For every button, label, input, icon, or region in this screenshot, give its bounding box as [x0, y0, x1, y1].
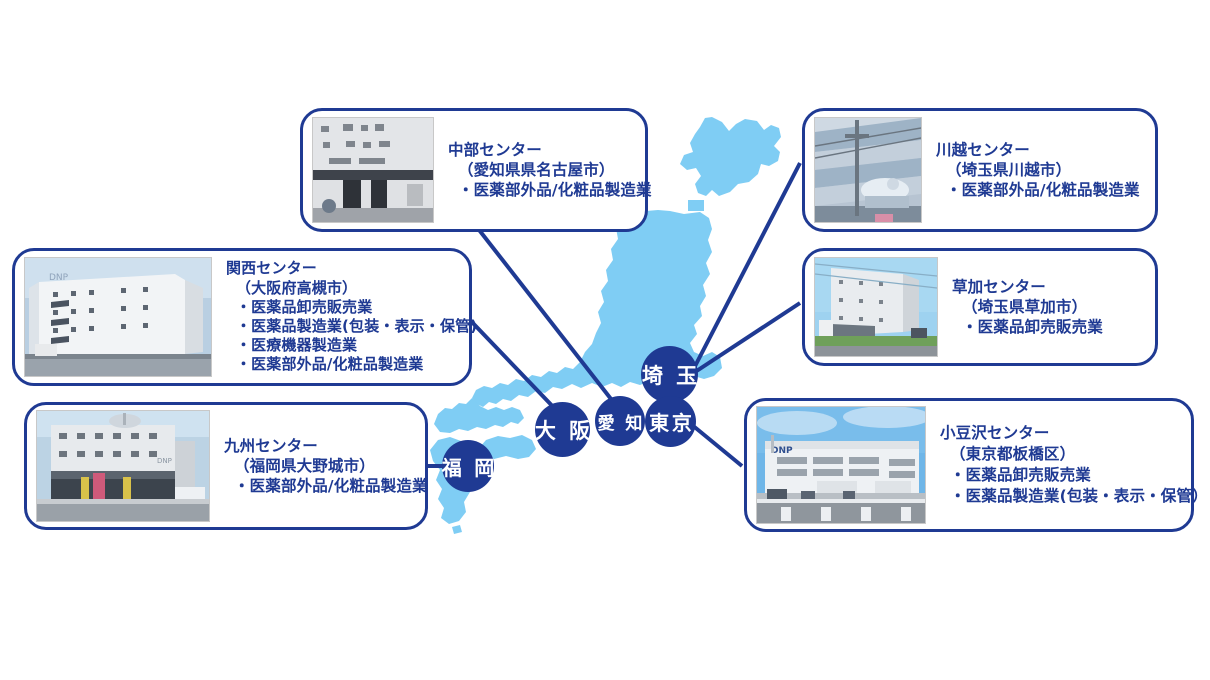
chubu-center-location: （愛知県県名古屋市） — [458, 160, 652, 180]
kyushu-center-location: （福岡県大野城市） — [234, 456, 428, 476]
kansai-center-text: 関西センター （大阪府高槻市） ・医薬品卸売販売業 ・医薬品製造業(包装・表示・… — [212, 259, 477, 374]
chubu-center-photo — [312, 117, 434, 223]
soka-center-name: 草加センター — [952, 277, 1146, 297]
kyushu-center-photo: DNP — [36, 410, 210, 522]
chubu-center-text: 中部センター （愛知県県名古屋市） ・医薬部外品/化粧品製造業 — [434, 140, 652, 200]
svg-text:DNP: DNP — [157, 457, 172, 465]
callout-kawagoe-center[interactable]: 川越センター （埼玉県川越市） ・医薬部外品/化粧品製造業 — [802, 108, 1158, 232]
azusawa-photo-sign: DNP — [771, 446, 793, 456]
soka-center-photo — [814, 257, 938, 357]
kyushu-center-name: 九州センター — [224, 436, 428, 456]
kawagoe-center-location: （埼玉県川越市） — [946, 160, 1146, 180]
kansai-center-location: （大阪府高槻市） — [236, 279, 477, 298]
map-pin-osaka-label: 大 阪 — [532, 415, 593, 445]
soka-center-item-0: ・医薬品卸売販売業 — [962, 317, 1146, 337]
map-pin-tokyo[interactable]: 東京 — [645, 396, 696, 447]
kansai-center-item-1: ・医薬品製造業(包装・表示・保管) — [236, 317, 477, 336]
callout-azusawa-center[interactable]: DNP 小豆沢センター （東京都板橋区） ・医薬品卸売販売業 ・医薬品製造業(包… — [744, 398, 1194, 532]
map-pin-saitama[interactable]: 埼 玉 — [641, 346, 698, 403]
hokkaido-shape — [680, 117, 781, 196]
map-pin-fukuoka-label: 福 岡 — [439, 452, 497, 481]
map-pin-saitama-label: 埼 玉 — [639, 360, 700, 390]
chubu-center-name: 中部センター — [448, 140, 652, 160]
callout-kyushu-center[interactable]: DNP 九州センター （福岡県大野城市） ・医薬部外品/化粧品製造業 — [24, 402, 428, 530]
kyushu-center-item-0: ・医薬部外品/化粧品製造業 — [234, 476, 428, 496]
map-pin-aichi[interactable]: 愛 知 — [595, 396, 645, 446]
callout-chubu-center[interactable]: 中部センター （愛知県県名古屋市） ・医薬部外品/化粧品製造業 — [300, 108, 648, 232]
azusawa-center-item-1: ・医薬品製造業(包装・表示・保管） — [950, 486, 1208, 507]
azusawa-center-text: 小豆沢センター （東京都板橋区） ・医薬品卸売販売業 ・医薬品製造業(包装・表示… — [926, 423, 1208, 506]
map-pin-osaka[interactable]: 大 阪 — [535, 402, 590, 457]
facility-map-diagram: 埼 玉 東京 愛 知 大 阪 福 岡 — [0, 0, 1210, 680]
callout-soka-center[interactable]: 草加センター （埼玉県草加市） ・医薬品卸売販売業 — [802, 248, 1158, 366]
kawagoe-center-photo — [814, 117, 922, 223]
map-pin-fukuoka[interactable]: 福 岡 — [442, 440, 494, 492]
azusawa-center-item-0: ・医薬品卸売販売業 — [950, 465, 1208, 486]
soka-center-location: （埼玉県草加市） — [962, 297, 1146, 317]
chubu-center-item-0: ・医薬部外品/化粧品製造業 — [458, 180, 652, 200]
svg-text:DNP: DNP — [49, 273, 69, 283]
kansai-center-item-0: ・医薬品卸売販売業 — [236, 298, 477, 317]
kawagoe-center-name: 川越センター — [936, 140, 1146, 160]
kansai-center-item-2: ・医療機器製造業 — [236, 336, 477, 355]
map-pin-tokyo-label: 東京 — [646, 407, 694, 436]
kyushu-center-text: 九州センター （福岡県大野城市） ・医薬部外品/化粧品製造業 — [210, 436, 428, 496]
kansai-center-item-3: ・医薬部外品/化粧品製造業 — [236, 355, 477, 374]
southern-islets-shape — [452, 525, 462, 534]
azusawa-center-location: （東京都板橋区） — [950, 444, 1208, 465]
kansai-center-name: 関西センター — [226, 259, 477, 278]
kansai-center-photo: DNP — [24, 257, 212, 377]
tsugaru-strait-island — [688, 200, 704, 211]
azusawa-center-photo: DNP — [756, 406, 926, 524]
callout-kansai-center[interactable]: DNP 関西センター （大阪府高槻市） ・医薬品卸売販売業 ・医薬品製造業(包装… — [12, 248, 472, 386]
azusawa-center-name: 小豆沢センター — [940, 423, 1208, 444]
kawagoe-center-item-0: ・医薬部外品/化粧品製造業 — [946, 180, 1146, 200]
kawagoe-center-text: 川越センター （埼玉県川越市） ・医薬部外品/化粧品製造業 — [922, 140, 1146, 200]
soka-center-text: 草加センター （埼玉県草加市） ・医薬品卸売販売業 — [938, 277, 1146, 337]
map-pin-aichi-label: 愛 知 — [595, 409, 644, 434]
